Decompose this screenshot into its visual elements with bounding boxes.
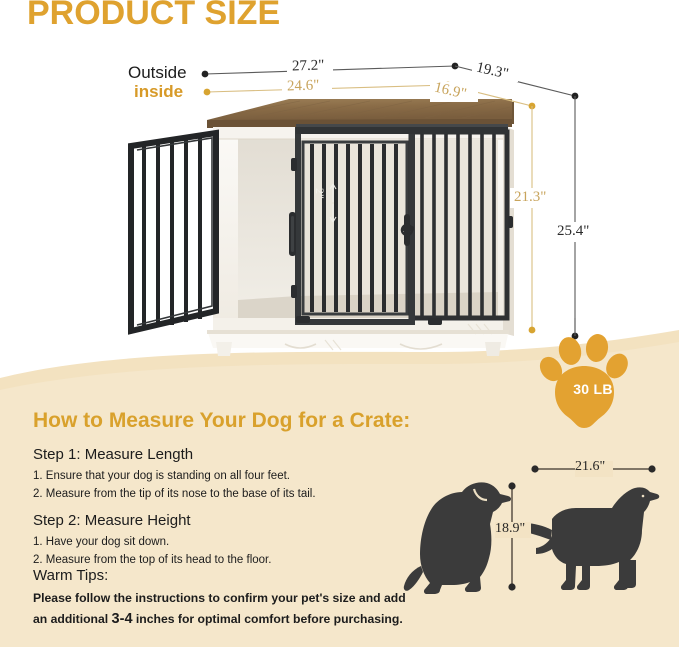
bar-spacing-label: 2" (312, 188, 327, 199)
warm-tips-line2-suffix: inches for optimal comfort before purcha… (133, 612, 403, 626)
legend-outside-label: Outside (128, 63, 187, 83)
step2-heading: Step 2: Measure Height (33, 512, 191, 529)
warm-tips-heading: Warm Tips: (33, 567, 108, 584)
step1-heading: Step 1: Measure Length (33, 446, 193, 463)
warm-tips-line-1: Please follow the instructions to confir… (33, 591, 406, 605)
step1-line-2: 2. Measure from the tip of its nose to t… (33, 488, 316, 500)
step2-line-1: 1. Have your dog sit down. (33, 536, 169, 548)
step2-line-2: 2. Measure from the top of its head to t… (33, 554, 271, 566)
dog-length-label: 21.6" (575, 459, 605, 475)
howto-section-title: How to Measure Your Dog for a Crate: (33, 409, 410, 433)
dimension-outside-height: 25.4" (557, 223, 589, 240)
warm-tips-line2-prefix: an additional (33, 612, 112, 626)
dimension-inside-height: 21.3" (514, 189, 546, 206)
step1-line-1: 1. Ensure that your dog is standing on a… (33, 470, 290, 482)
beige-background-panel (0, 0, 679, 647)
page-title: PRODUCT SIZE (27, 0, 280, 33)
product-size-infographic: PRODUCT SIZE (0, 0, 679, 647)
warm-tips-inches-value: 3-4 (112, 611, 133, 627)
dimension-inside-width: 24.6" (287, 77, 320, 95)
legend-inside-label: inside (134, 82, 183, 102)
warm-tips-line-2: an additional 3-4 inches for optimal com… (33, 611, 403, 627)
dimension-outside-width: 27.2" (292, 57, 325, 75)
dog-height-label: 18.9" (495, 521, 525, 537)
weight-badge-value: 30 LB (563, 381, 623, 397)
